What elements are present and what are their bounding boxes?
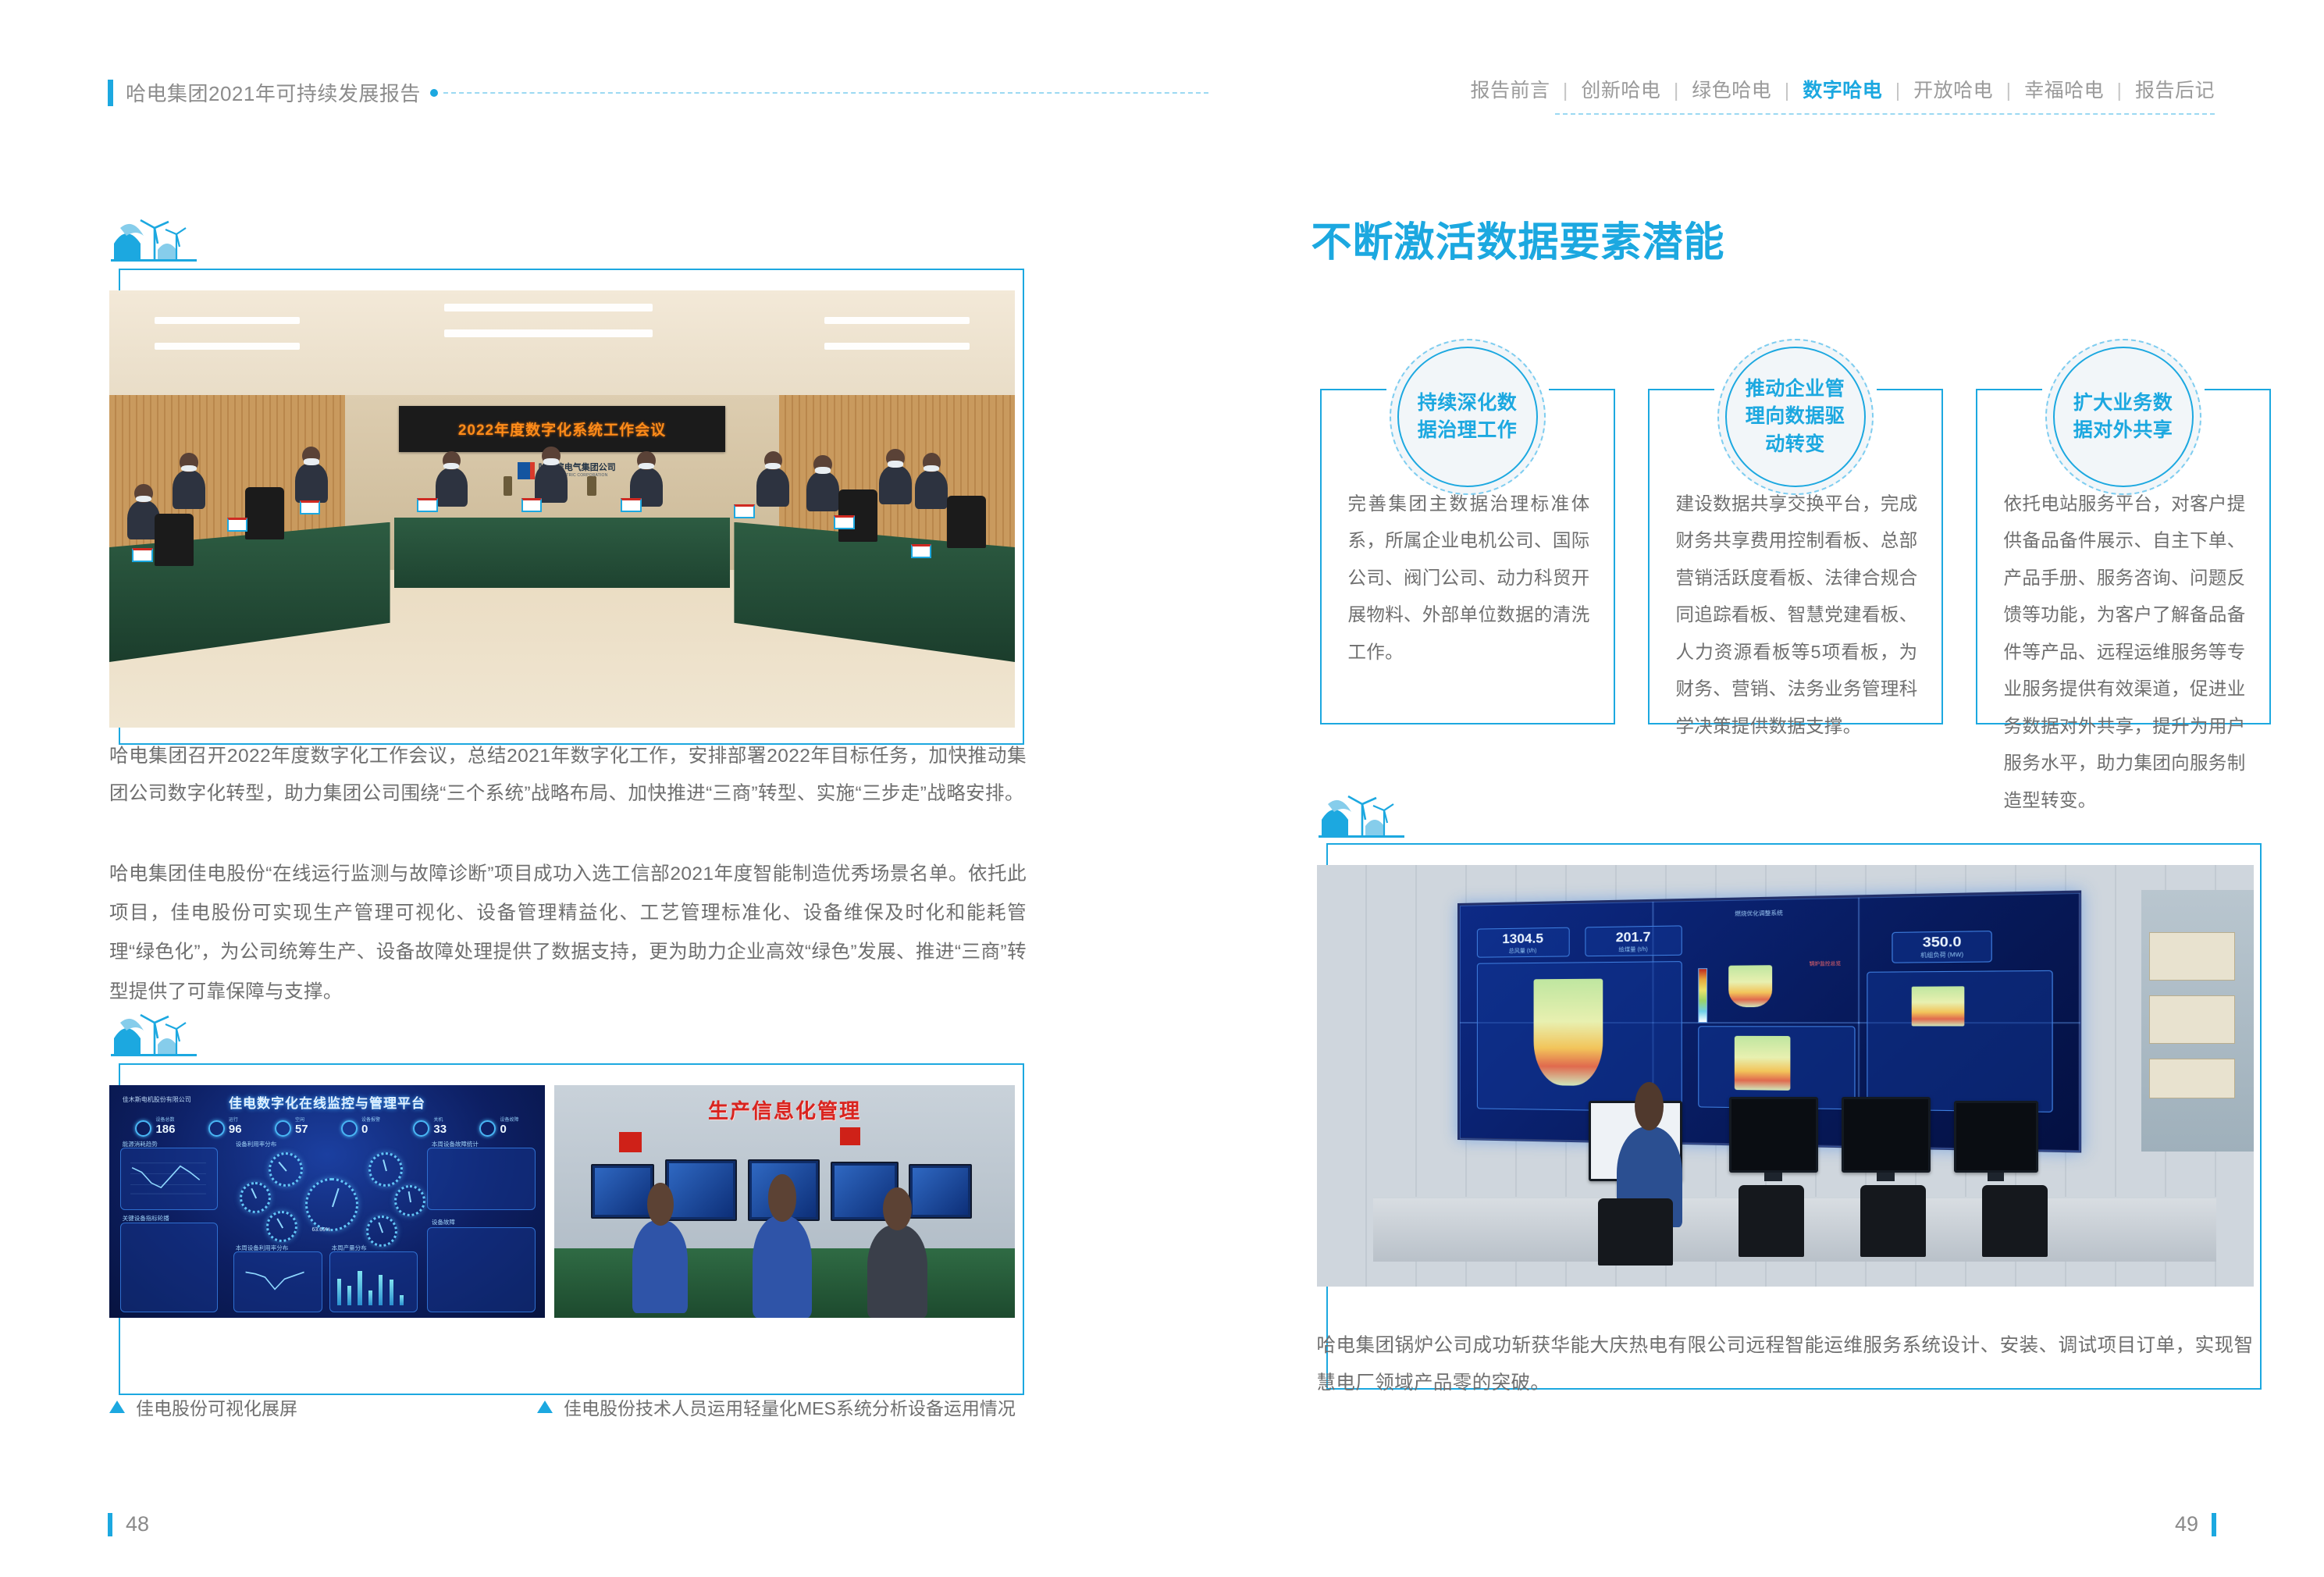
meeting-banner-text: 2022年度数字化系统工作会议 [458, 418, 666, 440]
weekly-output-panel [329, 1251, 418, 1312]
readout-label: 机组负荷 (MW) [1920, 951, 1963, 959]
card-body-text: 完善集团主数据治理标准体系，所属企业电机公司、国际公司、阀门公司、动力科贸开展物… [1348, 486, 1590, 671]
kpi-item: 设备报警0 [341, 1116, 380, 1137]
page-number-left-text: 48 [126, 1512, 149, 1536]
triangle-bullet-icon [109, 1401, 125, 1413]
nav-item-open[interactable]: 开放哈电 [1913, 80, 1993, 101]
readout-value: 201.7 [1615, 928, 1650, 945]
header-dashed-rule [443, 92, 1208, 94]
nav-separator: | [1778, 80, 1797, 101]
body-paragraph: 哈电集团佳电股份“在线运行监测与故障诊断”项目成功入选工信部2021年度智能制造… [109, 855, 1027, 1012]
mes-caption-text: 佳电股份技术人员运用轻量化MES系统分析设备运用情况 [564, 1394, 1016, 1420]
kpi-value: 96 [229, 1123, 242, 1136]
card-data-driven-management: 推动企业管理向数据驱动转变 建设数据共享交换平台，完成财务共享费用控制看板、总部… [1648, 389, 1943, 724]
panel-label: 能源消耗趋势 [123, 1140, 158, 1148]
mes-caption: 佳电股份技术人员运用轻量化MES系统分析设备运用情况 [537, 1394, 1016, 1420]
card-head-inner: 扩大业务数据对外共享 [2053, 347, 2194, 487]
page-number-right-text: 49 [2175, 1512, 2198, 1536]
dashboard-photo: 佳木斯电机股份有限公司 佳电数字化在线监控与管理平台 设备总数186 运行96 … [109, 1085, 545, 1318]
kpi-value: 57 [295, 1123, 308, 1136]
header-dot-icon [430, 89, 438, 97]
card-data-sharing: 扩大业务数据对外共享 依托电站服务平台，对客户提供备品备件展示、自主下单、产品手… [1976, 389, 2271, 724]
weekly-util-panel [233, 1251, 322, 1312]
nav-item-postscript[interactable]: 报告后记 [2135, 80, 2215, 101]
heatmap-colorbar [1698, 968, 1707, 1023]
kpi-item: 运行96 [208, 1116, 242, 1137]
kpi-ring-icon [413, 1120, 429, 1137]
section-nav: 报告前言 | 创新哈电 | 绿色哈电 | 数字哈电 | 开放哈电 | 幸福哈电 … [1470, 75, 2215, 103]
kpi-value: 33 [433, 1123, 447, 1136]
kpi-label: 运行 [229, 1116, 242, 1123]
panel-label: 本周产量分布 [332, 1244, 367, 1252]
card-head-circle: 推动企业管理向数据驱动转变 [1717, 339, 1874, 495]
readout-load: 350.0 机组负荷 (MW) [1892, 930, 1991, 963]
kpi-label: 设备故障 [500, 1116, 518, 1123]
nav-item-happiness[interactable]: 幸福哈电 [2024, 80, 2104, 101]
page-right: 报告前言 | 创新哈电 | 绿色哈电 | 数字哈电 | 开放哈电 | 幸福哈电 … [1162, 0, 2324, 1577]
nav-item-green[interactable]: 绿色哈电 [1692, 80, 1771, 101]
video-wall-alarm-label: 锅炉监控总览 [1809, 959, 1840, 967]
panel-label: 设备故障 [432, 1218, 455, 1226]
kpi-ring-icon [479, 1120, 496, 1137]
panel-label: 本周设备利用率分布 [236, 1244, 289, 1252]
meeting-caption: 哈电集团召开2022年度数字化工作会议，总结2021年数字化工作，安排部署202… [109, 738, 1027, 813]
triangle-bullet-icon [537, 1401, 553, 1413]
meeting-banner: 2022年度数字化系统工作会议 [399, 406, 725, 452]
section-title: 不断激活数据要素潜能 [1311, 209, 1725, 268]
dashboard-company: 佳木斯电机股份有限公司 [123, 1095, 191, 1104]
chart-panel [120, 1148, 218, 1209]
card-body-text: 建设数据共享交换平台，完成财务共享费用控制看板、总部营销活跃度看板、法律合规合同… [1676, 486, 1918, 745]
panel-label: 设备利用率分布 [236, 1140, 277, 1148]
readout-label: 给煤量 (t/h) [1618, 945, 1647, 953]
kpi-ring-icon [135, 1120, 151, 1137]
header-dashed-rule-right [1555, 113, 2215, 115]
kpi-item: 设备总数186 [135, 1116, 175, 1137]
document-spread: 哈电集团2021年可持续发展报告 [0, 0, 2324, 1577]
dashboard-caption-text: 佳电股份可视化展屏 [136, 1394, 297, 1420]
fault-chart-panel [427, 1148, 536, 1209]
kpi-label: 关机 [433, 1116, 447, 1123]
kpi-ring-icon [275, 1120, 291, 1137]
page-left: 哈电集团2021年可持续发展报告 [0, 0, 1162, 1577]
kpi-item: 设备故障0 [479, 1116, 518, 1137]
readout-coal: 201.7 给煤量 (t/h) [1585, 925, 1682, 956]
card-head-text: 推动企业管理向数据驱动转变 [1741, 376, 1850, 459]
page-number-bar [2212, 1513, 2216, 1536]
card-head-circle: 扩大业务数据对外共享 [2045, 339, 2201, 495]
nav-item-preface[interactable]: 报告前言 [1470, 80, 1550, 101]
card-data-governance: 持续深化数据治理工作 完善集团主数据治理标准体系，所属企业电机公司、国际公司、阀… [1320, 389, 1615, 724]
kpi-value: 0 [500, 1123, 506, 1136]
kpi-item: 关机33 [413, 1116, 447, 1137]
readout-airflow: 1304.5 总风量 (t/h) [1476, 927, 1569, 958]
kpi-item: 空闲57 [275, 1116, 308, 1137]
control-room-caption: 哈电集团锅炉公司成功斩获华能大庆热电有限公司远程智能运维服务系统设计、安装、调试… [1317, 1327, 2254, 1402]
fault-table-panel [427, 1227, 536, 1312]
report-title: 哈电集团2021年可持续发展报告 [126, 78, 421, 107]
nav-separator: | [1667, 80, 1686, 101]
dashboard-caption: 佳电股份可视化展屏 [109, 1394, 297, 1420]
kpi-value: 186 [155, 1123, 175, 1136]
logo-mark-icon [518, 462, 535, 479]
chair [1982, 1185, 2048, 1257]
card-head-text: 持续深化数据治理工作 [1413, 390, 1522, 445]
readout-value: 350.0 [1922, 934, 1961, 951]
hydro-wind-decor-icon-2 [109, 1007, 197, 1071]
chair [1739, 1185, 1804, 1257]
dashboard-kpis: 设备总数186 运行96 空闲57 设备报警0 关机33 设备故障0 [135, 1116, 518, 1137]
meeting-photo: 2022年度数字化系统工作会议 哈尔滨电气集团公司 HARBIN ELECTRI… [109, 290, 1015, 728]
kpi-label: 空闲 [295, 1116, 308, 1123]
card-head-inner: 推动企业管理向数据驱动转变 [1725, 347, 1866, 487]
header-left: 哈电集团2021年可持续发展报告 [108, 78, 1208, 107]
kpi-label: 设备总数 [155, 1116, 175, 1123]
header-accent-bar [108, 80, 113, 106]
mes-banner-text: 生产信息化管理 [708, 1095, 861, 1124]
hydro-wind-decor-icon [109, 212, 197, 276]
nav-separator: | [1999, 80, 2019, 101]
table-panel [120, 1223, 218, 1312]
mes-banner: 生产信息化管理 [591, 1095, 978, 1125]
chair [1860, 1185, 1926, 1257]
kpi-ring-icon [341, 1120, 358, 1137]
control-room-photo: 燃烧优化调整系统 1304.5 总风量 (t/h) 201.7 给煤量 (t/h… [1317, 865, 2254, 1287]
kpi-label: 设备报警 [361, 1116, 380, 1123]
readout-label: 总风量 (t/h) [1508, 946, 1536, 955]
page-number-bar [108, 1513, 112, 1536]
kpi-ring-icon [208, 1120, 225, 1137]
panel-label: 关键设备指标轮播 [123, 1214, 169, 1223]
nav-item-digital[interactable]: 数字哈电 [1803, 80, 1882, 101]
center-gauge-value: 63.69% [311, 1227, 330, 1233]
card-head-inner: 持续深化数据治理工作 [1397, 347, 1538, 487]
operator-chair [1598, 1198, 1673, 1266]
nav-separator: | [1888, 80, 1908, 101]
video-wall-system-label: 燃烧优化调整系统 [1735, 909, 1783, 918]
card-head-circle: 持续深化数据治理工作 [1390, 339, 1546, 495]
card-head-text: 扩大业务数据对外共享 [2069, 390, 2178, 445]
panel-label: 本周设备故障统计 [432, 1140, 479, 1148]
nav-separator: | [2110, 80, 2130, 101]
mes-photo: 生产信息化管理 [554, 1085, 1015, 1318]
nav-separator: | [1556, 80, 1575, 101]
card-body-text: 依托电站服务平台，对客户提供备品备件展示、自主下单、产品手册、服务咨询、问题反馈… [2004, 486, 2246, 819]
dashboard-title: 佳电数字化在线监控与管理平台 [229, 1092, 425, 1112]
page-number-left: 48 [108, 1512, 149, 1536]
nav-item-innovation[interactable]: 创新哈电 [1581, 80, 1660, 101]
page-number-right: 49 [2175, 1512, 2216, 1536]
readout-value: 1304.5 [1502, 930, 1543, 946]
kpi-value: 0 [361, 1123, 368, 1136]
header-right: 报告前言 | 创新哈电 | 绿色哈电 | 数字哈电 | 开放哈电 | 幸福哈电 … [1470, 75, 2215, 115]
